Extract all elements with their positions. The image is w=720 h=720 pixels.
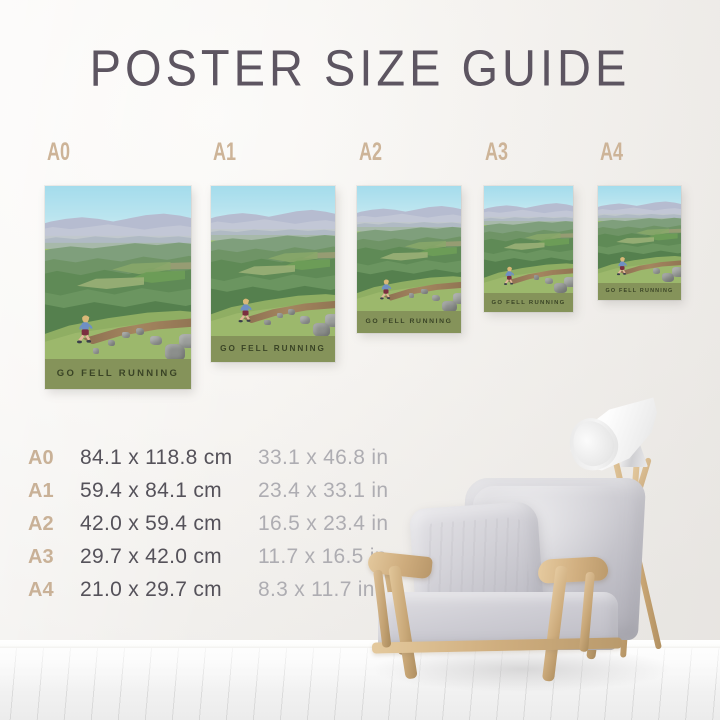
rock: [409, 293, 414, 297]
table-cm-a1: 59.4 x 84.1 cm: [80, 479, 258, 503]
rock: [136, 328, 145, 335]
table-code-a0: A0: [28, 447, 80, 470]
poster-a3[interactable]: GO FELL RUNNING: [484, 186, 573, 312]
poster-artwork-a4: GO FELL RUNNING: [598, 186, 681, 300]
runner-figure: [236, 292, 255, 329]
rock: [122, 332, 129, 338]
poster-caption-a2: GO FELL RUNNING: [366, 318, 453, 325]
rock: [288, 309, 295, 315]
table-row: A4 21.0 x 29.7 cm 8.3 x 11.7 in: [28, 578, 388, 611]
poster-caption-a0: GO FELL RUNNING: [57, 368, 179, 379]
table-cm-a0: 84.1 x 118.8 cm: [80, 446, 258, 470]
poster-caption-a4: GO FELL RUNNING: [606, 288, 674, 294]
rock: [432, 295, 440, 302]
poster-caption-a1: GO FELL RUNNING: [220, 344, 326, 353]
table-cm-a4: 21.0 x 29.7 cm: [80, 578, 258, 602]
table-in-a2: 16.5 x 23.4 in: [258, 512, 388, 536]
table-in-a1: 23.4 x 33.1 in: [258, 479, 388, 503]
rock: [534, 275, 539, 279]
poster-caption-band-a4: GO FELL RUNNING: [598, 283, 681, 300]
table-row: A3 29.7 x 42.0 cm 11.7 x 16.5 in: [28, 545, 388, 578]
runner-figure: [502, 262, 516, 290]
poster-caption-band-a2: GO FELL RUNNING: [357, 311, 461, 333]
poster-caption-band-a1: GO FELL RUNNING: [211, 336, 335, 362]
rock: [300, 316, 310, 324]
poster-artwork-a3: GO FELL RUNNING: [484, 186, 573, 312]
runner-figure: [74, 308, 96, 351]
size-tag-a3: A3: [485, 140, 508, 165]
table-row: A2 42.0 x 59.4 cm 16.5 x 23.4 in: [28, 512, 388, 545]
rock: [545, 278, 553, 284]
size-tag-a4: A4: [600, 140, 623, 165]
poster-artwork-a1: GO FELL RUNNING: [211, 186, 335, 362]
rock: [277, 313, 283, 318]
poster-a0[interactable]: GO FELL RUNNING: [45, 186, 191, 389]
poster-artwork-a0: GO FELL RUNNING: [45, 186, 191, 389]
rock: [421, 289, 427, 294]
table-code-a2: A2: [28, 513, 80, 536]
table-row: A1 59.4 x 84.1 cm 23.4 x 33.1 in: [28, 479, 388, 512]
poster-caption-band-a3: GO FELL RUNNING: [484, 293, 573, 312]
size-tag-a2: A2: [359, 140, 382, 165]
size-tag-a0: A0: [47, 140, 70, 165]
rock: [264, 320, 270, 325]
table-in-a0: 33.1 x 46.8 in: [258, 446, 388, 470]
poster-caption-band-a0: GO FELL RUNNING: [45, 359, 191, 389]
runner-figure: [378, 274, 394, 305]
chair-armrest-right: [537, 556, 608, 584]
table-cm-a2: 42.0 x 59.4 cm: [80, 512, 258, 536]
poster-a1[interactable]: GO FELL RUNNING: [211, 186, 335, 362]
poster-size-guide-scene: POSTER SIZE GUIDE A0 A1 A2 A3 A4: [0, 0, 720, 720]
table-code-a3: A3: [28, 546, 80, 569]
rock: [653, 268, 660, 274]
poster-a4[interactable]: GO FELL RUNNING: [598, 186, 681, 300]
runner-figure: [615, 253, 629, 279]
table-in-a4: 8.3 x 11.7 in: [258, 578, 375, 602]
poster-artwork-a2: GO FELL RUNNING: [357, 186, 461, 333]
rock: [108, 340, 115, 346]
chair-floor-shadow: [372, 646, 672, 692]
rock: [150, 336, 162, 345]
rock: [662, 273, 674, 283]
table-row: A0 84.1 x 118.8 cm 33.1 x 46.8 in: [28, 446, 388, 479]
size-tag-a1: A1: [213, 140, 236, 165]
table-code-a1: A1: [28, 480, 80, 503]
poster-a2[interactable]: GO FELL RUNNING: [357, 186, 461, 333]
page-title: POSTER SIZE GUIDE: [0, 38, 720, 97]
rock: [554, 283, 566, 293]
table-code-a4: A4: [28, 579, 80, 602]
size-table: A0 84.1 x 118.8 cm 33.1 x 46.8 in A1 59.…: [28, 446, 388, 611]
table-cm-a3: 29.7 x 42.0 cm: [80, 545, 258, 569]
poster-caption-a3: GO FELL RUNNING: [491, 300, 565, 306]
